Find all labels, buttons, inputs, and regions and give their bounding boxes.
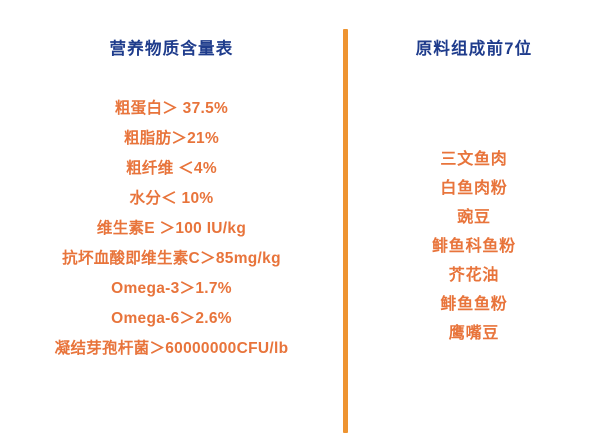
nutrition-column-title: 营养物质含量表 xyxy=(0,35,343,59)
ingredients-column: 原料组成前7位 三文鱼肉 白鱼肉粉 豌豆 鲱鱼科鱼粉 芥花油 鲱鱼鱼粉 鹰嘴豆 xyxy=(348,0,600,443)
ingredients-column-title: 原料组成前7位 xyxy=(348,35,600,59)
nutrition-row: 粗纤维 ＜4% xyxy=(0,154,343,184)
nutrition-row: Omega-6＞2.6% xyxy=(0,304,343,334)
nutrition-row: 水分＜ 10% xyxy=(0,184,343,214)
nutrition-column: 营养物质含量表 粗蛋白＞ 37.5% 粗脂肪＞21% 粗纤维 ＜4% 水分＜ 1… xyxy=(0,0,343,443)
ingredient-row: 三文鱼肉 xyxy=(348,145,600,174)
nutrition-row: Omega-3＞1.7% xyxy=(0,274,343,304)
ingredient-row: 鲱鱼鱼粉 xyxy=(348,290,600,319)
ingredient-row: 豌豆 xyxy=(348,203,600,232)
nutrition-row: 维生素E ＞100 IU/kg xyxy=(0,214,343,244)
nutrition-row: 抗坏血酸即维生素C＞85mg/kg xyxy=(0,244,343,274)
ingredient-row: 鲱鱼科鱼粉 xyxy=(348,232,600,261)
nutrition-info-panel: 营养物质含量表 粗蛋白＞ 37.5% 粗脂肪＞21% 粗纤维 ＜4% 水分＜ 1… xyxy=(0,0,600,443)
ingredient-row: 白鱼肉粉 xyxy=(348,174,600,203)
ingredient-row: 鹰嘴豆 xyxy=(348,319,600,348)
ingredient-row-list: 三文鱼肉 白鱼肉粉 豌豆 鲱鱼科鱼粉 芥花油 鲱鱼鱼粉 鹰嘴豆 xyxy=(348,145,600,348)
nutrition-row: 粗蛋白＞ 37.5% xyxy=(0,94,343,124)
nutrition-row: 粗脂肪＞21% xyxy=(0,124,343,154)
ingredient-row: 芥花油 xyxy=(348,261,600,290)
nutrition-row-list: 粗蛋白＞ 37.5% 粗脂肪＞21% 粗纤维 ＜4% 水分＜ 10% 维生素E … xyxy=(0,94,343,364)
nutrition-row: 凝结芽孢杆菌＞60000000CFU/lb xyxy=(0,334,343,364)
